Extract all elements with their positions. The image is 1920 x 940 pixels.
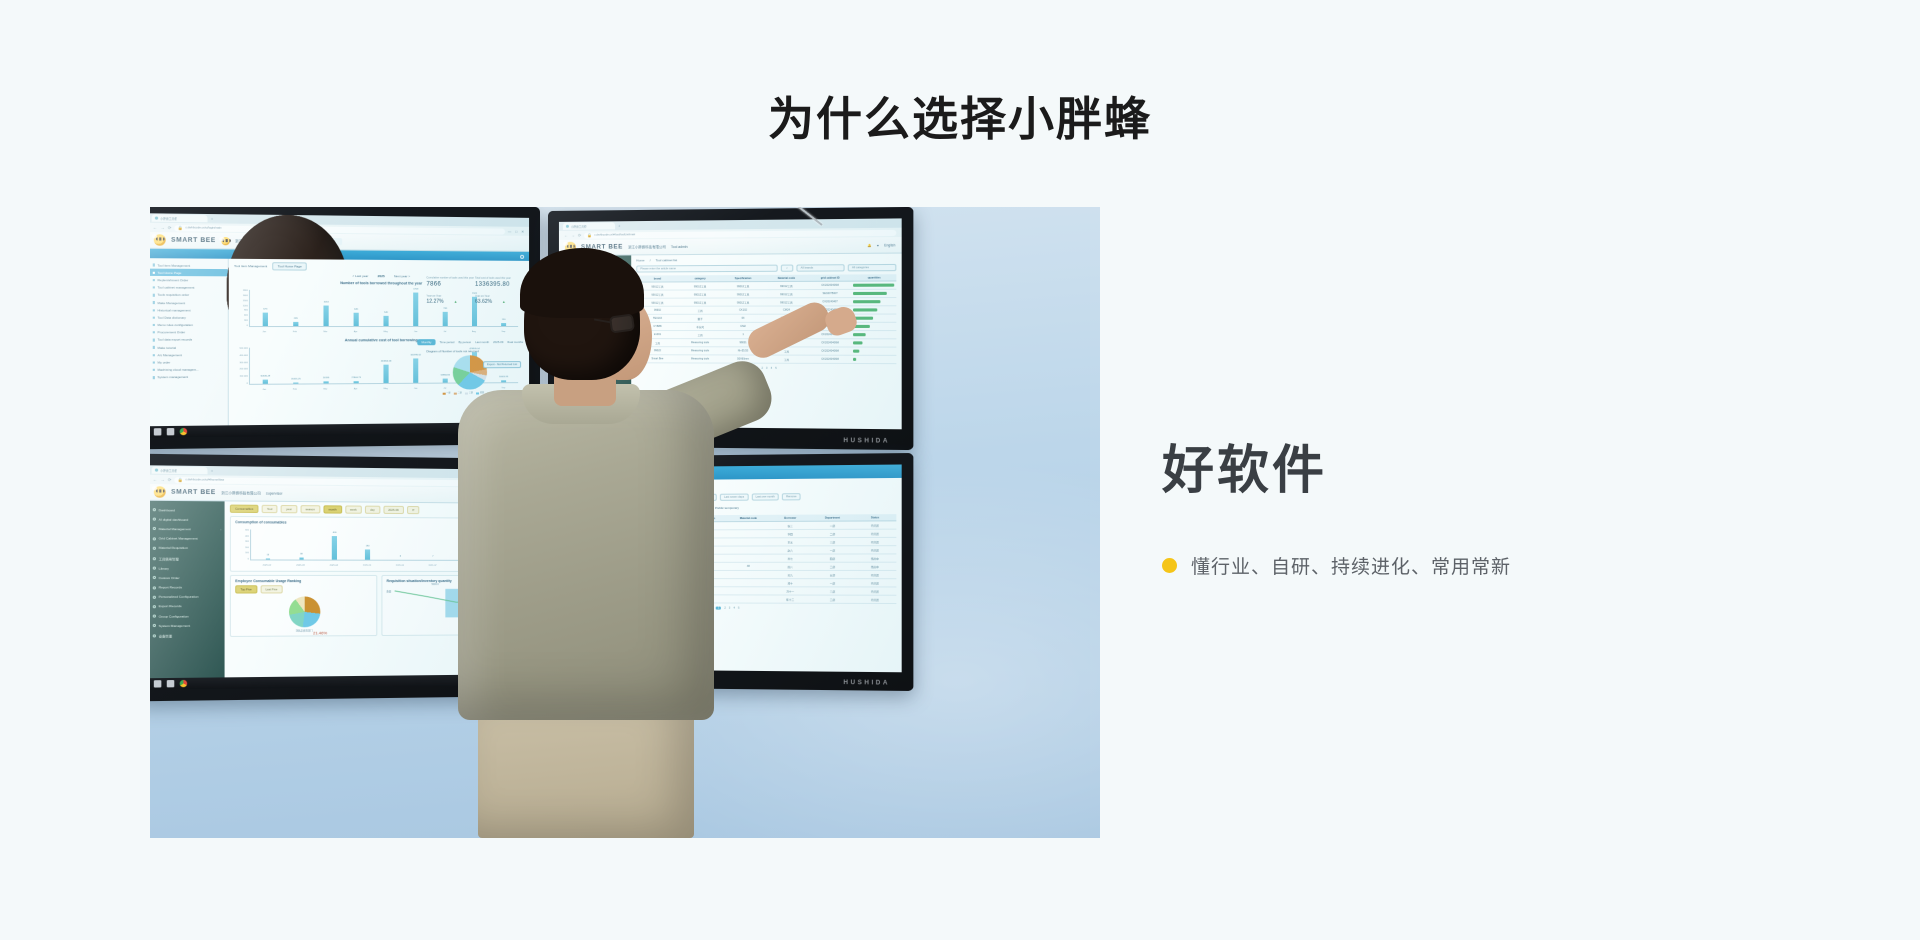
lens-left xyxy=(609,313,635,333)
y-axis-label: 数量 xyxy=(387,589,392,593)
favicon-icon xyxy=(566,225,569,228)
table-cell xyxy=(728,522,770,530)
table-cell xyxy=(728,538,770,546)
page-5[interactable]: 5 xyxy=(738,607,739,610)
bar-value-label: 1703 xyxy=(413,288,418,290)
bar-value-label: 13 xyxy=(267,555,270,557)
maximize-icon[interactable]: □ xyxy=(515,229,517,233)
bar-value-label: 50535.49 xyxy=(261,376,271,378)
table-cell: 周八 xyxy=(769,562,811,570)
sidebar-item-0[interactable]: Dashboard xyxy=(150,505,225,515)
material-icon xyxy=(153,527,156,530)
bar-4: 540 xyxy=(384,315,389,326)
chip-5[interactable]: week xyxy=(345,505,362,513)
polo-shirt xyxy=(458,390,714,720)
doc-icon xyxy=(153,346,156,348)
x-tick-1: Feb xyxy=(293,389,297,391)
app-brand: SMART BEE xyxy=(171,236,216,244)
x-tick-4: 2025-06 xyxy=(396,565,404,567)
x-tick-5: 2025-07 xyxy=(428,565,436,567)
page-3[interactable]: 3 xyxy=(766,367,767,370)
table-cell xyxy=(852,331,896,339)
sidebar-item-6[interactable]: Library xyxy=(150,564,225,574)
table-cell xyxy=(852,289,896,297)
table-cell: 借出中 xyxy=(854,562,897,570)
table-cell: 冯十一 xyxy=(769,587,811,595)
chrome-icon[interactable] xyxy=(180,680,188,687)
new-tab-button[interactable]: + xyxy=(211,469,213,473)
sidebar-item-8[interactable]: Report Records xyxy=(150,583,225,593)
chrome-icon[interactable] xyxy=(180,428,188,435)
bar-6: 706 xyxy=(443,312,448,326)
bee-logo-icon xyxy=(154,234,166,246)
doc-icon xyxy=(153,324,156,326)
sidebar[interactable]: Dashboard AI digital dashboard Material … xyxy=(150,501,225,678)
table-cell: 已归还 xyxy=(854,546,897,554)
bar-value-label: 341995.62 xyxy=(410,354,421,356)
sidebar-item-9[interactable]: Personalized Configuration xyxy=(150,592,225,602)
table-cell: 99012工具 xyxy=(765,282,809,290)
browser-tab[interactable]: 小胖蜂工具柜 xyxy=(152,214,208,222)
quantity-bar xyxy=(853,292,887,295)
page-title: 为什么选择小胖蜂 xyxy=(0,96,1920,142)
order-icon xyxy=(153,576,156,579)
search-icon[interactable] xyxy=(167,428,175,435)
table-cell: 赵六 xyxy=(769,546,811,554)
bar-1: 205 xyxy=(293,322,298,326)
monitor-brand: HUSHIDA xyxy=(843,438,890,445)
chevron-right-icon xyxy=(153,376,156,379)
table-cell: 已归还 xyxy=(854,587,897,595)
person-presenter xyxy=(450,252,720,838)
doc-icon xyxy=(153,331,156,333)
start-icon[interactable] xyxy=(154,428,162,435)
quick-last-one-month[interactable]: Last one month xyxy=(751,493,778,500)
bar-5: 1703 xyxy=(413,292,418,326)
hair-top xyxy=(520,248,644,318)
x-tick-4: May xyxy=(384,331,388,333)
table-cell: 99012工具 xyxy=(722,290,765,298)
table-cell: 工具 xyxy=(765,355,809,363)
table-cell: 二部 xyxy=(811,562,853,570)
page-2[interactable]: 2 xyxy=(762,367,763,370)
chip-6[interactable]: day xyxy=(365,506,380,514)
minimize-icon[interactable]: — xyxy=(508,229,511,233)
bar-1: 38 xyxy=(299,557,304,559)
reload-icon[interactable]: ⟳ xyxy=(168,478,172,482)
x-tick-2: Mar xyxy=(323,331,327,333)
table-cell: 李四 xyxy=(769,530,811,538)
forward-icon[interactable]: → xyxy=(160,477,164,481)
table-cell: 陈十二 xyxy=(769,595,811,603)
table-cell: CK20240406M xyxy=(808,281,852,289)
table-cell: 王五 xyxy=(769,538,811,546)
value-prop-heading: 好软件 xyxy=(1162,443,1782,500)
bullet-dot-icon xyxy=(1162,558,1177,573)
doc-icon xyxy=(153,309,156,311)
bar-2: 24335 xyxy=(324,382,329,384)
table-cell: 借出中 xyxy=(854,554,897,562)
search-icon[interactable] xyxy=(167,680,175,687)
bar-1: 15315.25 xyxy=(293,382,298,383)
grid-icon xyxy=(153,537,156,540)
panel-employee-ranking: Employee Consumable Usage Ranking Top Fi… xyxy=(230,575,377,637)
table-cell: CK20240406M xyxy=(808,355,852,363)
quick-last-seven-days[interactable]: Last seven days xyxy=(720,494,748,501)
table-cell: 孙七 xyxy=(769,554,811,562)
quantity-bar xyxy=(853,284,894,287)
table-cell: 99012工具 xyxy=(765,290,809,298)
glasses-icon xyxy=(610,314,656,334)
bar-value-label: 27844.73 xyxy=(351,377,360,379)
new-tab-button[interactable]: + xyxy=(618,224,620,228)
ranking-toggle[interactable]: Top Five Last Five xyxy=(235,585,372,593)
new-tab-button[interactable]: + xyxy=(211,217,213,221)
x-tick-2: 2025-04 xyxy=(330,565,338,567)
x-tick-5: Jun xyxy=(414,331,418,333)
quick-remove[interactable]: Remove xyxy=(782,493,801,500)
back-icon[interactable]: ← xyxy=(153,477,157,481)
page-4[interactable]: 4 xyxy=(771,367,772,370)
favicon-icon xyxy=(155,217,158,220)
requisition-icon xyxy=(153,547,156,550)
x-tick-2: Mar xyxy=(323,388,327,390)
table-cell: 已归还 xyxy=(854,529,897,537)
table-cell: 已归还 xyxy=(854,579,897,587)
quantity-bar xyxy=(853,301,880,304)
header-actions[interactable]: 🔔 ● English xyxy=(867,243,895,247)
chip-7[interactable]: 2025-09 xyxy=(383,506,404,514)
sidebar-item-8[interactable]: Tool Data dictionary xyxy=(150,314,228,322)
bar-value-label: 15315.25 xyxy=(291,378,301,380)
pie-label-0: 消耗品使用部门 xyxy=(235,628,372,633)
system-icon xyxy=(153,624,156,627)
table-cell xyxy=(728,571,770,579)
window-controls[interactable]: — □ ✕ xyxy=(508,229,524,233)
bar-0: 13 xyxy=(266,559,271,560)
kpi-percent: 21.46% xyxy=(313,630,327,635)
sidebar-item-3[interactable]: Grid Cabinet Management xyxy=(150,534,225,544)
monitor-brand: HUSHIDA xyxy=(843,680,890,687)
bar-3: 645 xyxy=(354,313,359,326)
x-tick-6: Jul xyxy=(443,331,446,333)
bar-0: 50535.49 xyxy=(263,380,268,384)
sidebar-item-1[interactable]: AI digital dashboard xyxy=(150,515,225,525)
table-cell: 三部 xyxy=(811,587,853,595)
trousers xyxy=(478,704,694,838)
bar-value-label: 8 xyxy=(400,555,401,557)
promo-page: 为什么选择小胖蜂 小胖蜂工具柜 + ← → xyxy=(0,0,1920,940)
toggle-last-five[interactable]: Last Five xyxy=(260,585,282,593)
pie-chart-ranking xyxy=(288,596,319,627)
table-cell xyxy=(728,554,770,562)
bar-2: 1034 xyxy=(324,305,329,326)
table-cell xyxy=(852,322,896,330)
x-tick-3: Apr xyxy=(354,331,358,333)
sidebar-item-10[interactable]: Export Records xyxy=(150,602,225,612)
doc-icon xyxy=(153,294,156,297)
value-prop-bullet-row: 懂行业、自研、持续进化、常用常新 xyxy=(1162,552,1782,579)
doc-icon xyxy=(153,279,156,282)
sidebar-item-11[interactable]: Group Configuration xyxy=(150,611,225,621)
org-name: 浙江小胖蜂科技有限公司 xyxy=(221,490,261,496)
config-icon xyxy=(153,596,156,599)
category-select[interactable]: All categories xyxy=(848,264,897,271)
group-icon xyxy=(153,615,156,618)
doc-icon xyxy=(153,316,156,318)
table-cell: 四部 xyxy=(811,554,853,562)
sidebar-item-5[interactable]: 工具借用管理 xyxy=(150,553,225,564)
table-cell xyxy=(728,530,770,538)
page-4[interactable]: 4 xyxy=(733,607,734,610)
language-switch[interactable]: English xyxy=(884,243,895,247)
bar-value-label: 7 xyxy=(432,555,433,557)
chip-1[interactable]: Tool xyxy=(262,505,278,513)
export-icon xyxy=(153,605,156,608)
user-name[interactable]: Tool admin xyxy=(671,244,688,248)
table-cell xyxy=(852,314,896,322)
ai-icon xyxy=(153,518,156,521)
table-cell xyxy=(728,595,770,603)
avatar[interactable]: ● xyxy=(877,243,879,247)
borrow-icon xyxy=(153,557,156,560)
table-cell: 64 xyxy=(722,314,765,322)
value-prop-block: 好软件 懂行业、自研、持续进化、常用常新 xyxy=(1162,443,1782,579)
doc-icon xyxy=(153,286,156,289)
lock-icon: 🔒 xyxy=(587,233,592,237)
bar-3: 27844.73 xyxy=(354,381,359,383)
bar-4: 263805.58 xyxy=(384,364,389,383)
back-icon[interactable]: ← xyxy=(564,233,568,237)
bar-value-label: 180 xyxy=(366,545,370,547)
forward-icon[interactable]: → xyxy=(160,225,164,229)
start-icon[interactable] xyxy=(154,680,162,687)
x-tick-0: 2025-02 xyxy=(263,565,271,567)
brand-select[interactable]: All brands xyxy=(796,264,844,271)
doc-icon xyxy=(153,339,156,341)
y-axis-ticks: 1800 1600 1500 1200 900 600 300 0 xyxy=(236,290,249,327)
chip-4[interactable]: month xyxy=(323,505,341,513)
doc-icon xyxy=(153,301,156,303)
doc-icon xyxy=(153,361,156,364)
table-cell: CK20240406M xyxy=(808,347,852,355)
table-cell: SE32075007 xyxy=(808,290,852,298)
sidebar-item-2[interactable]: Material Management› xyxy=(150,524,225,534)
table-cell: 一部 xyxy=(811,579,853,587)
table-cell: 48 xyxy=(728,562,770,570)
library-icon xyxy=(153,567,156,570)
app-brand: SMART BEE xyxy=(171,488,216,496)
sidebar-item-7[interactable]: Historical management xyxy=(150,306,228,314)
table-cell xyxy=(852,355,896,363)
page-3[interactable]: 3 xyxy=(729,607,730,610)
table-cell: 二部 xyxy=(811,595,853,603)
table-cell: 一部 xyxy=(811,521,853,529)
bar-value-label: 263805.58 xyxy=(381,360,392,362)
breadcrumb-1[interactable]: Tool Home Page xyxy=(272,262,306,270)
page-2[interactable]: 2 xyxy=(724,607,725,610)
table-cell: 三部 xyxy=(811,538,853,546)
page-5[interactable]: 5 xyxy=(775,367,776,370)
sidebar-item-13[interactable]: 设备管理 xyxy=(150,630,225,641)
table-cell: 吴九 xyxy=(769,571,811,579)
bar-peak-label: 5000.0 xyxy=(432,584,439,586)
table-cell: 已归还 xyxy=(854,521,897,529)
bar-5: 341995.62 xyxy=(413,359,418,383)
bar-value-label: 645 xyxy=(354,309,358,311)
sidebar-item-10[interactable]: Procurement Order xyxy=(150,329,228,337)
refresh-icon[interactable]: ⟳ xyxy=(407,506,420,514)
bar-value-label: 205 xyxy=(294,318,298,320)
sidebar-item-17[interactable]: System management xyxy=(150,373,228,381)
table-cell: 99012工具 xyxy=(722,282,765,290)
lock-icon: 🔒 xyxy=(178,478,183,482)
chip-2[interactable]: year xyxy=(281,505,297,513)
x-tick-0: Jan xyxy=(262,389,266,391)
table-cell: 一部 xyxy=(811,546,853,554)
browser-tab[interactable]: 小胖蜂工具柜 xyxy=(563,222,615,230)
y-axis-ticks-cost: 500.000 400.000 300.000 200.000 100.000 … xyxy=(236,348,249,385)
bar-value-label: 24335 xyxy=(323,377,329,379)
legend-swatch xyxy=(442,392,445,394)
table-cell: 99012工具 xyxy=(765,298,809,306)
chart-title-ranking: Employee Consumable Usage Ranking xyxy=(235,579,372,583)
lock-icon: 🔒 xyxy=(178,226,183,230)
close-icon[interactable]: ✕ xyxy=(521,229,524,233)
table-cell: 郑十 xyxy=(769,579,811,587)
table-cell xyxy=(728,579,770,587)
bar-value-label: 673 xyxy=(263,308,267,310)
table-cell: 已归还 xyxy=(854,538,897,546)
x-tick-5: Jun xyxy=(414,388,418,390)
bell-icon[interactable]: 🔔 xyxy=(867,243,871,247)
table-cell: 已归还 xyxy=(854,571,897,579)
bar-value-label: 38 xyxy=(300,553,303,555)
segment-monthly[interactable]: Monthly xyxy=(417,339,435,345)
bar-2: 400 xyxy=(332,536,337,560)
table-cell: 五部 xyxy=(811,571,853,579)
next-year-button[interactable]: Next year > xyxy=(394,274,410,278)
doc-icon xyxy=(153,264,156,267)
y-axis-ticks: 500 400 300 200 100 0 xyxy=(237,529,250,560)
current-year: 2025 xyxy=(378,274,385,278)
table-cell: CK20240406M xyxy=(808,339,852,347)
bar-value-label: 400 xyxy=(333,532,337,534)
table-cell: 二部 xyxy=(811,529,853,537)
chevron-down-icon: › xyxy=(220,527,221,531)
quantity-bar xyxy=(853,309,877,312)
favicon-icon xyxy=(155,469,158,472)
org-badge-icon xyxy=(221,236,230,244)
table-cell xyxy=(728,587,770,595)
table-cell xyxy=(852,339,896,347)
back-icon[interactable]: ← xyxy=(153,225,157,229)
bar-value-label: 540 xyxy=(384,311,388,313)
table-cell: 张三 xyxy=(769,521,811,529)
sidebar-item-11[interactable]: Tool data export records xyxy=(150,336,228,344)
quantity-bar xyxy=(853,342,862,345)
bar-value-label: 1034 xyxy=(324,301,329,303)
reload-icon[interactable]: ⟳ xyxy=(168,226,172,230)
x-tick-1: Feb xyxy=(293,331,297,333)
sidebar-item-6[interactable]: Make Management xyxy=(150,299,228,307)
org-name: 浙江小胖蜂科技有限公司 xyxy=(628,244,666,249)
doc-icon xyxy=(153,354,156,357)
chip-3[interactable]: season xyxy=(300,505,320,513)
hero-photo: 小胖蜂工具柜 + ← → ⟳ 🔒 c.dwhbcode.cn/ui/login/… xyxy=(150,207,1100,838)
chip-0[interactable]: Consumables xyxy=(230,505,259,513)
x-tick-0: Jan xyxy=(262,331,266,333)
doc-icon xyxy=(153,271,156,274)
report-icon xyxy=(153,586,156,589)
quantity-bar xyxy=(853,334,866,337)
forward-icon[interactable]: → xyxy=(571,233,575,237)
breadcrumb-0[interactable]: Tool item Management xyxy=(234,264,267,268)
table-cell: 已归还 xyxy=(854,595,897,603)
sidebar-item-9[interactable]: Menu rules configuration xyxy=(150,321,228,329)
user-name[interactable]: supervisor xyxy=(266,491,282,495)
sidebar-item-4[interactable]: Material Requisition xyxy=(150,543,225,553)
device-icon xyxy=(153,634,156,637)
table-cell xyxy=(852,306,896,314)
x-tick-3: Apr xyxy=(354,388,358,390)
x-tick-1: 2025-03 xyxy=(296,565,304,567)
bar-3: 180 xyxy=(365,549,370,560)
x-tick-4: May xyxy=(384,388,388,390)
table-cell xyxy=(728,546,770,554)
prev-year-button[interactable]: < Last year xyxy=(352,274,368,278)
dashboard-icon xyxy=(153,508,156,511)
table-cell xyxy=(852,347,896,355)
search-icon[interactable]: ⌕ xyxy=(781,265,793,272)
sidebar-item-12[interactable]: System Management xyxy=(150,621,225,631)
toggle-top-five[interactable]: Top Five xyxy=(235,585,257,593)
table-cell xyxy=(852,281,896,289)
quantity-bar xyxy=(853,358,856,361)
reload-icon[interactable]: ⟳ xyxy=(578,233,581,237)
bee-logo-icon xyxy=(154,486,166,498)
browser-tab[interactable]: 小胖蜂工具柜 xyxy=(152,466,208,474)
value-prop-bullet-text: 懂行业、自研、持续进化、常用常新 xyxy=(1191,552,1511,579)
table-cell xyxy=(852,298,896,306)
table-cell: CK102 xyxy=(722,306,765,314)
x-tick-3: 2025-05 xyxy=(363,565,371,567)
chevron-right-icon xyxy=(153,369,156,372)
sidebar[interactable]: Menu navigation Tool Cabinet Management … xyxy=(150,258,229,426)
table-cell: 99012工具 xyxy=(722,298,765,306)
sidebar-item-7[interactable]: Custom Order xyxy=(150,573,225,583)
bar-0: 673 xyxy=(263,313,268,326)
quantity-bar xyxy=(853,350,859,353)
